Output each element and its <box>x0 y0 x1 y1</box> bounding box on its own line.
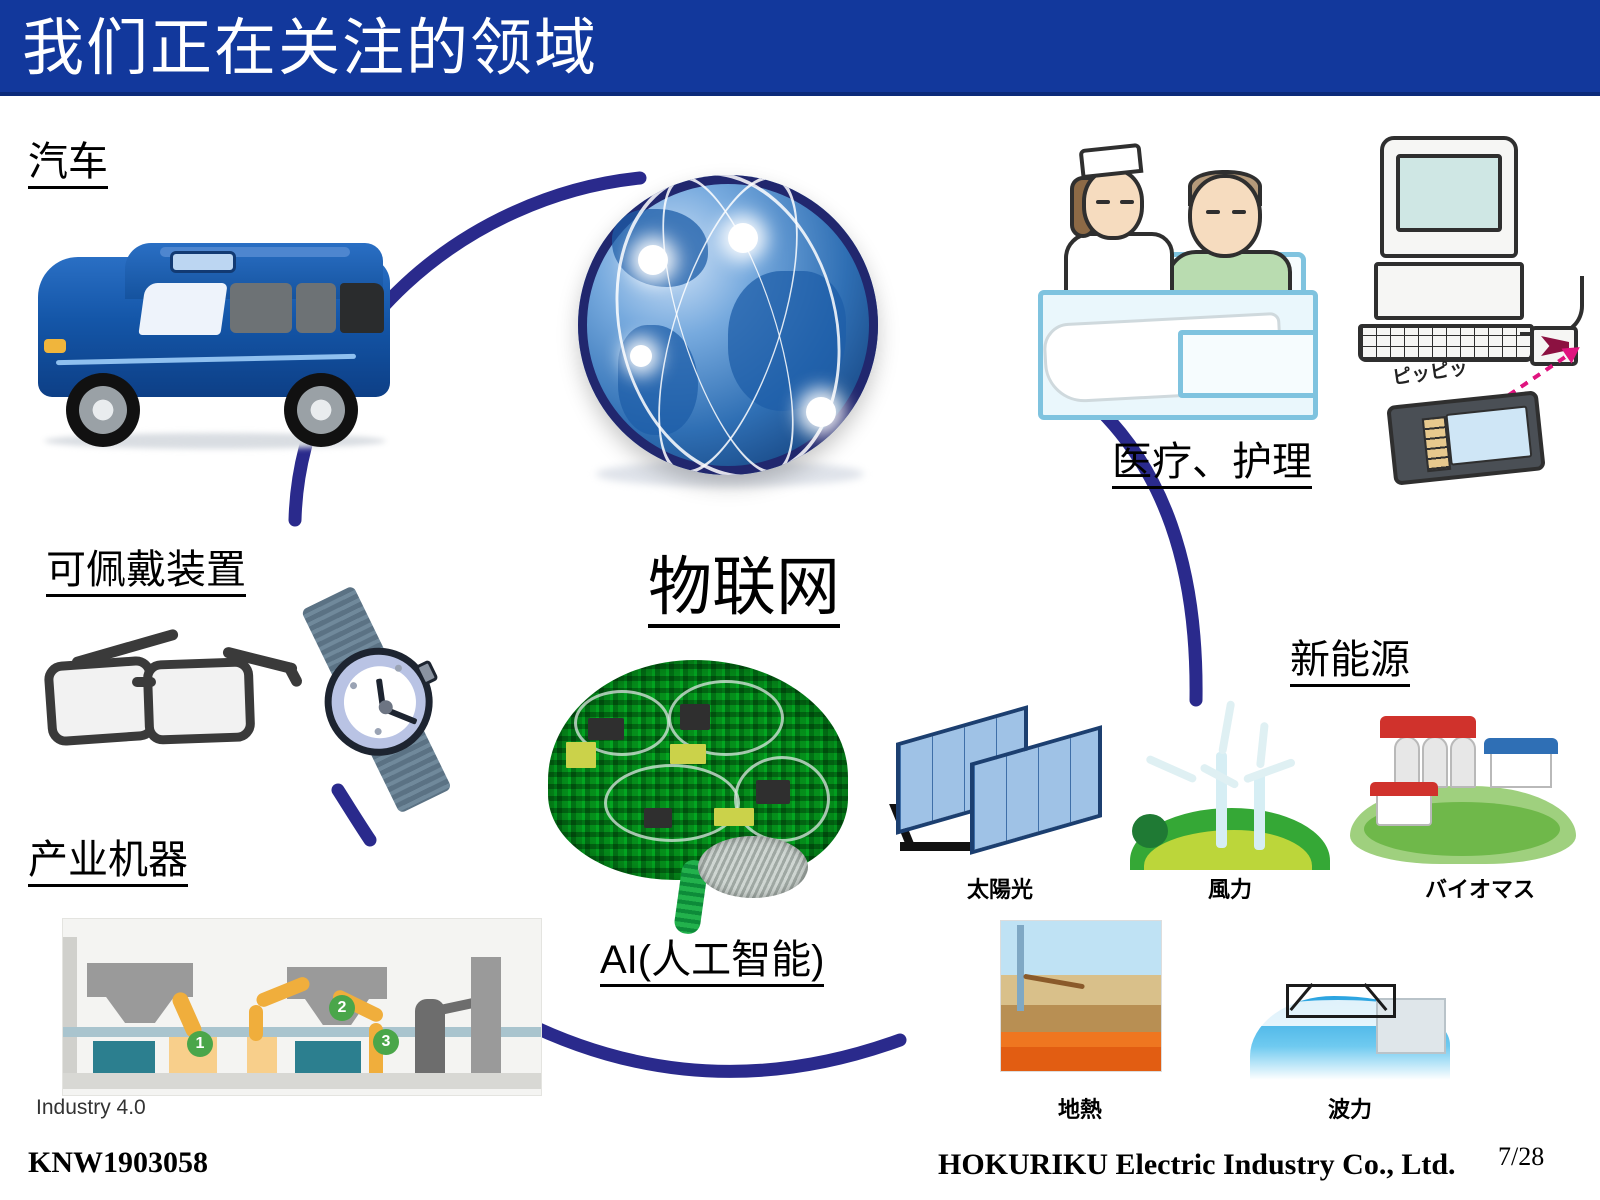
footer-page-number: 7/28 <box>1498 1142 1544 1172</box>
label-medical-nursing: 医疗、护理 <box>1112 440 1312 489</box>
slide-title-bar: 我们正在关注的领域 <box>0 0 1600 96</box>
caption-biomass: バイオマス <box>1400 872 1560 904</box>
caption-solar: 太陽光 <box>940 872 1060 904</box>
wristwatch-illustration <box>249 557 512 843</box>
globe-network-illustration <box>578 175 908 505</box>
caption-wind: 風力 <box>1170 872 1290 904</box>
factory-line-illustration: 1 2 3 <box>62 918 542 1096</box>
solar-panel-illustration <box>890 700 1100 870</box>
computer-reader-illustration: ピッピッ <box>1352 136 1596 486</box>
label-iot: 物联网 <box>648 552 840 628</box>
automobile-illustration <box>30 235 410 465</box>
footer-company: HOKURIKU Electric Industry Co., Ltd. <box>938 1148 1456 1182</box>
geothermal-illustration <box>1000 920 1162 1072</box>
robot-marker-3: 3 <box>373 1029 399 1055</box>
footer-doc-id: KNW1903058 <box>28 1146 208 1180</box>
wave-power-illustration <box>1250 960 1450 1080</box>
ai-brain-illustration <box>548 660 858 940</box>
biomass-plant-illustration <box>1350 690 1580 870</box>
label-automobile: 汽车 <box>28 140 108 189</box>
nursing-care-illustration <box>1028 140 1328 440</box>
factory-note: Industry 4.0 <box>36 1096 146 1120</box>
robot-marker-2: 2 <box>329 995 355 1021</box>
caption-geothermal: 地熱 <box>1020 1092 1140 1124</box>
label-industrial-machine: 产业机器 <box>28 838 188 887</box>
label-ai: AI(人工智能) <box>600 938 824 987</box>
wind-turbine-illustration <box>1130 700 1330 870</box>
label-wearable: 可佩戴装置 <box>46 548 246 597</box>
label-new-energy: 新能源 <box>1290 638 1410 687</box>
caption-wave: 波力 <box>1290 1092 1410 1124</box>
robot-marker-1: 1 <box>187 1031 213 1057</box>
page-title: 我们正在关注的领域 <box>22 6 598 92</box>
